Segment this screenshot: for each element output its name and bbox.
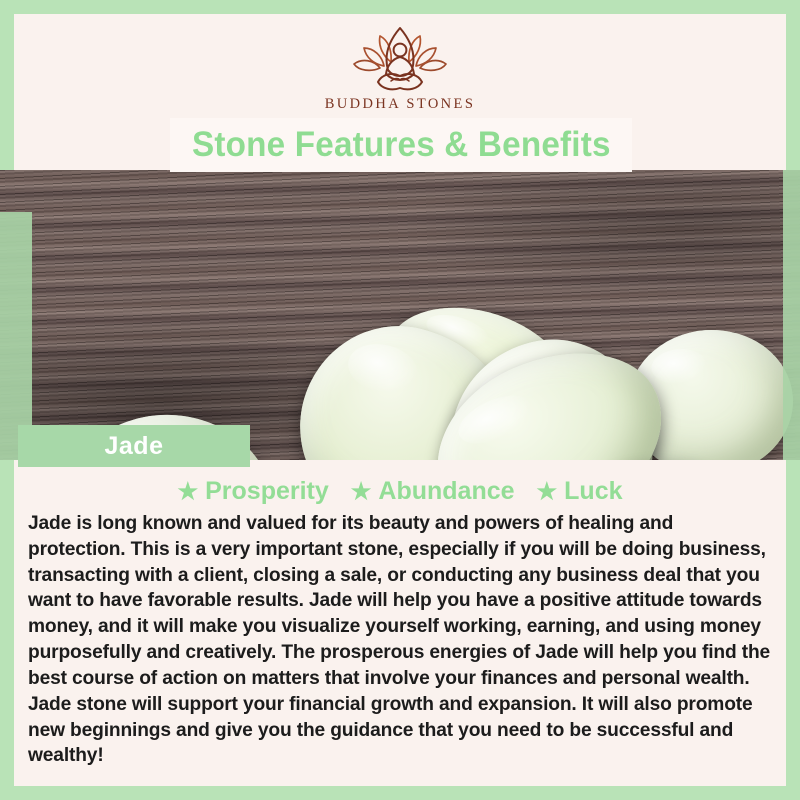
stone-description: Jade is long known and valued for its be… xyxy=(14,511,786,769)
benefit-label: Luck xyxy=(564,477,622,506)
benefit-item: ★ Abundance xyxy=(351,477,515,506)
brand-header: BUDDHA STONES xyxy=(14,14,786,121)
benefit-item: ★ Prosperity xyxy=(177,477,328,506)
lotus-meditation-icon xyxy=(340,26,460,92)
green-accent-strip-left xyxy=(0,212,32,460)
page-title: Stone Features & Benefits xyxy=(192,125,611,165)
jade-stones-photo xyxy=(0,170,800,460)
star-icon: ★ xyxy=(351,480,372,503)
star-icon: ★ xyxy=(177,480,198,503)
star-icon: ★ xyxy=(537,480,558,503)
content-panel: ★ Prosperity ★ Abundance ★ Luck Jade is … xyxy=(14,460,786,786)
title-banner: Stone Features & Benefits xyxy=(170,118,632,172)
benefit-label: Abundance xyxy=(378,477,514,506)
brand-name: BUDDHA STONES xyxy=(325,96,476,113)
infographic-card: BUDDHA STONES Stone Features & Benefits … xyxy=(0,0,800,800)
benefit-label: Prosperity xyxy=(205,477,329,506)
stone-name-label: Jade xyxy=(105,432,164,461)
green-accent-strip-right xyxy=(783,170,800,460)
brand-logo: BUDDHA STONES xyxy=(325,26,476,113)
stone-name-banner: Jade xyxy=(18,425,250,467)
benefit-item: ★ Luck xyxy=(537,477,623,506)
